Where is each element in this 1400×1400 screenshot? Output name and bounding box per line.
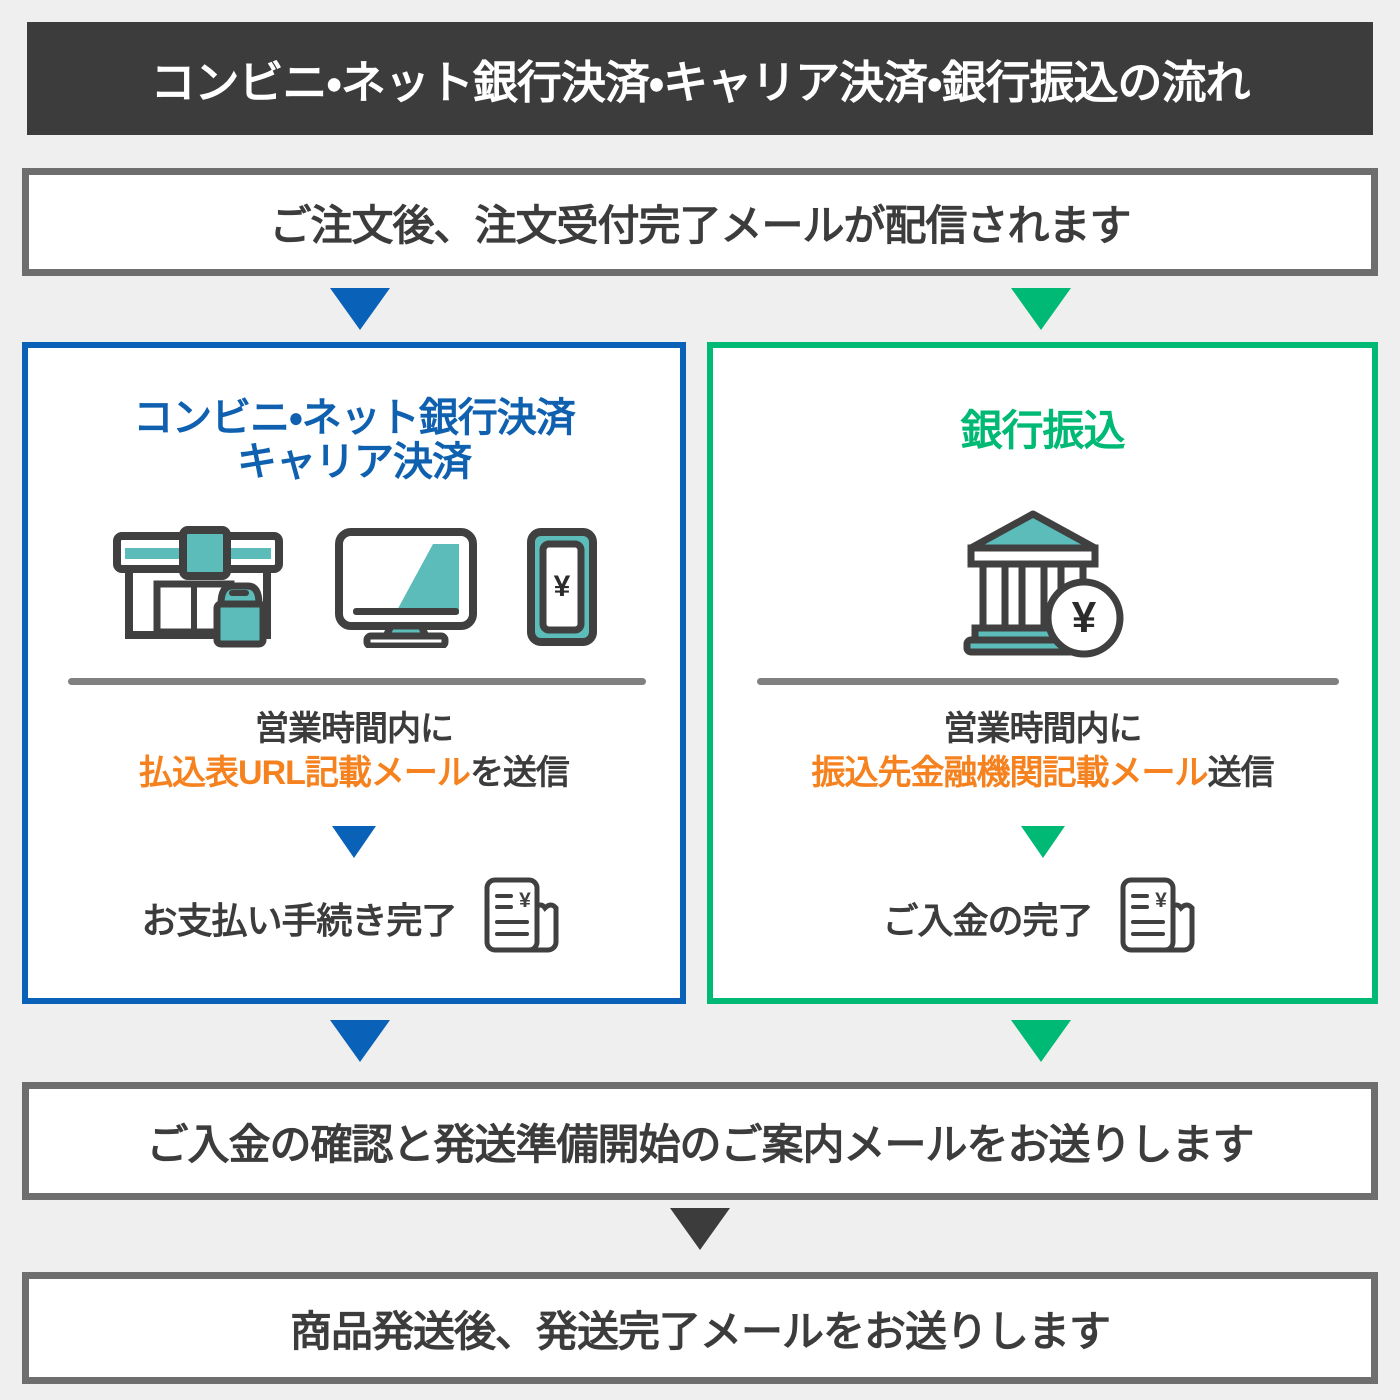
yen-symbol: ¥ [519, 889, 531, 912]
step-order-confirmation-label: ご注文後、注文受付完了メールが配信されます [269, 192, 1130, 253]
diagram-title: コンビニ・ネット銀行決済・キャリア決済・銀行振込の流れ [151, 46, 1250, 111]
convenience-completion-row: お支払い手続き完了 ¥ [28, 872, 680, 964]
invoice-receipt-icon: ¥ [1111, 872, 1203, 964]
panel-bank-transfer-title: 銀行振込 [713, 408, 1372, 454]
step-shipped-box: 商品発送後、発送完了メールをお送りします [22, 1272, 1378, 1384]
bank-mail-highlight: 振込先金融機関記載メール [812, 754, 1208, 792]
convenience-mail-text: 営業時間内に 払込表URL記載メールを送信 [28, 708, 680, 795]
bank-mail-prefix: 営業時間内に [944, 710, 1142, 748]
bank-completion-label: ご入金の完了 [882, 892, 1092, 944]
down-arrow-to-shipped-icon [670, 1208, 730, 1250]
bank-building-yen-icon: ¥ [957, 508, 1129, 660]
down-arrow-to-bank-icon [1011, 288, 1071, 330]
panel-convenience-title: コンビニ・ネット銀行決済 キャリア決済 [28, 396, 680, 484]
convenience-mail-prefix: 営業時間内に [255, 710, 453, 748]
step-order-confirmation-box: ご注文後、注文受付完了メールが配信されます [22, 168, 1378, 276]
convenience-divider [68, 678, 646, 685]
panel-convenience-title-line1: コンビニ・ネット銀行決済 [28, 396, 680, 440]
down-arrow-from-convenience-icon [330, 1020, 390, 1062]
diagram-title-bar: コンビニ・ネット銀行決済・キャリア決済・銀行振込の流れ [27, 22, 1373, 135]
bank-mail-suffix: 送信 [1208, 754, 1274, 792]
down-arrow-convenience-step-icon [332, 826, 376, 858]
bank-divider [757, 678, 1339, 685]
panel-convenience-payment: コンビニ・ネット銀行決済 キャリア決済 [22, 342, 686, 1004]
bank-icon-row: ¥ [713, 508, 1372, 660]
panel-bank-transfer: 銀行振込 ¥ [707, 342, 1378, 1004]
convenience-mail-suffix: を送信 [470, 754, 569, 792]
panel-convenience-title-line2: キャリア決済 [28, 440, 680, 484]
step-payment-confirmed-label: ご入金の確認と発送準備開始のご案内メールをお送りします [146, 1111, 1253, 1172]
down-arrow-to-convenience-icon [330, 288, 390, 330]
yen-symbol: ¥ [554, 570, 571, 603]
convenience-icon-row: ¥ [28, 526, 680, 648]
smartphone-yen-icon: ¥ [525, 526, 599, 648]
bank-mail-text: 営業時間内に 振込先金融機関記載メール送信 [713, 708, 1372, 795]
invoice-receipt-icon: ¥ [475, 872, 567, 964]
bank-completion-row: ご入金の完了 ¥ [713, 872, 1372, 964]
convenience-mail-highlight: 払込表URL記載メール [139, 754, 470, 792]
desktop-monitor-icon [333, 526, 479, 648]
payment-flow-diagram: コンビニ・ネット銀行決済・キャリア決済・銀行振込の流れ ご注文後、注文受付完了メ… [0, 0, 1400, 1400]
yen-symbol: ¥ [1155, 889, 1167, 912]
yen-symbol: ¥ [1071, 593, 1096, 642]
convenience-completion-label: お支払い手続き完了 [141, 892, 456, 944]
step-shipped-label: 商品発送後、発送完了メールをお送りします [290, 1298, 1110, 1359]
step-payment-confirmed-box: ご入金の確認と発送準備開始のご案内メールをお送りします [22, 1082, 1378, 1200]
down-arrow-bank-step-icon [1021, 826, 1065, 858]
down-arrow-from-bank-icon [1011, 1020, 1071, 1062]
convenience-store-icon [109, 526, 287, 648]
